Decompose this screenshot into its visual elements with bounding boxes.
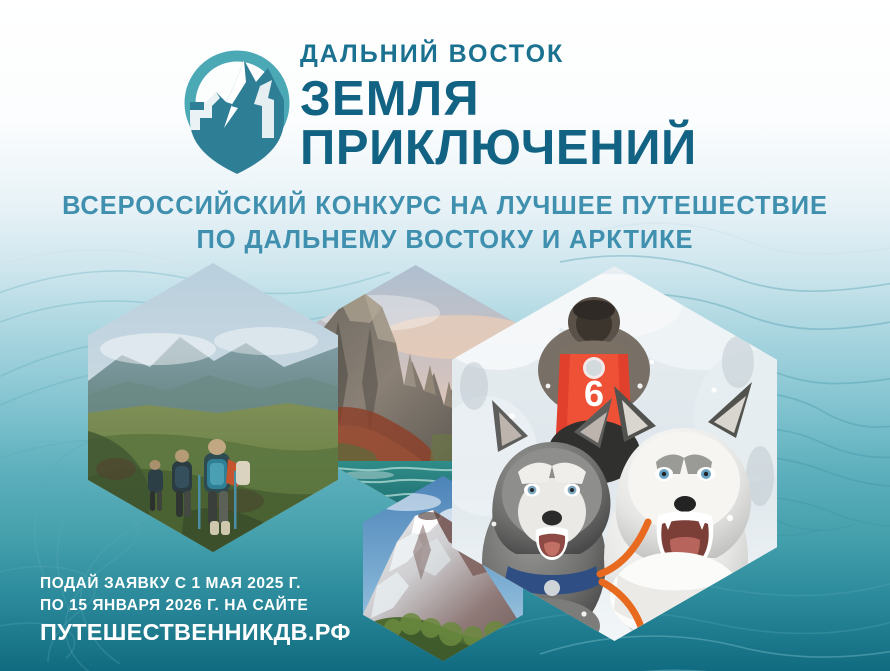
brand-title-line2: ПРИКЛЮЧЕНИЙ (300, 124, 697, 173)
footer-line2: ПО 15 ЯНВАРЯ 2026 Г. НА САЙТЕ (40, 595, 351, 617)
footer-line1: ПОДАЙ ЗАЯВКУ С 1 МАЯ 2025 Г. (40, 573, 351, 595)
photo-hikers-with-backpacks-on-tundra-trail (88, 263, 338, 552)
contest-subtitle-line2: ПО ДАЛЬНЕМУ ВОСТОКУ И АРКТИКЕ (0, 224, 890, 258)
contest-website-url[interactable]: ПУТЕШЕСТВЕННИКДВ.РФ (40, 619, 351, 645)
contest-subtitle-line1: ВСЕРОССИЙСКИЙ КОНКУРС НА ЛУЧШЕЕ ПУТЕШЕСТ… (0, 190, 890, 224)
mountain-shield-logo (176, 42, 298, 178)
application-info-footer: ПОДАЙ ЗАЯВКУ С 1 МАЯ 2025 Г. ПО 15 ЯНВАР… (40, 573, 351, 645)
promo-poster: ДАЛЬНИЙ ВОСТОК ЗЕМЛЯ ПРИКЛЮЧЕНИЙ ВСЕРОСС… (0, 0, 890, 671)
contest-subtitle: ВСЕРОССИЙСКИЙ КОНКУРС НА ЛУЧШЕЕ ПУТЕШЕСТ… (0, 190, 890, 257)
brand-kicker: ДАЛЬНИЙ ВОСТОК (300, 42, 564, 67)
brand-title-line1: ЗЕМЛЯ (300, 75, 480, 124)
